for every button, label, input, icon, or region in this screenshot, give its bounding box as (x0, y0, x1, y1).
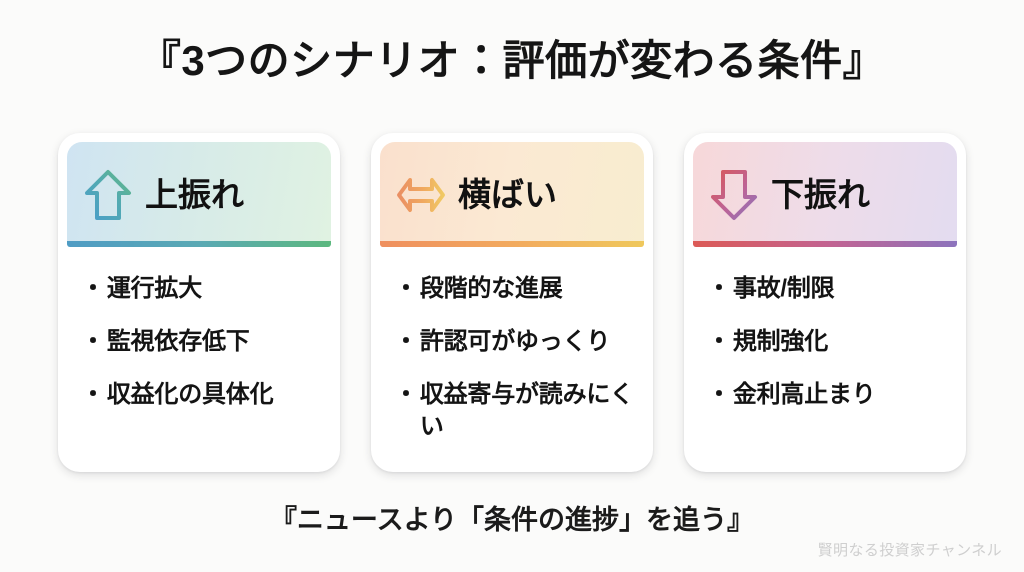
list-item: ・ 収益寄与が読みにくい (394, 379, 638, 441)
bullet-marker: ・ (707, 326, 731, 357)
bullet-text: 規制強化 (733, 326, 951, 357)
bullet-text: 収益寄与が読みにくい (420, 379, 638, 441)
accent-bar-downside (693, 241, 957, 247)
list-item: ・ 監視依存低下 (81, 326, 325, 357)
card-title-downside: 下振れ (771, 178, 870, 211)
bullet-text: 金利高止まり (733, 379, 951, 410)
bullet-marker: ・ (81, 379, 105, 410)
page-title: 『3つのシナリオ：評価が変わる条件』 (0, 36, 1024, 86)
bullet-text: 運行拡大 (107, 273, 325, 304)
accent-bar-upside (67, 241, 331, 247)
scenario-card-row: 上振れ ・ 運行拡大 ・ 監視依存低下 ・ 収益化の具体化 (58, 133, 966, 472)
card-body-upside: ・ 運行拡大 ・ 監視依存低下 ・ 収益化の具体化 (67, 247, 331, 472)
bullet-marker: ・ (394, 273, 418, 304)
card-header-downside: 下振れ (693, 142, 957, 247)
bullet-marker: ・ (707, 273, 731, 304)
bullet-text: 段階的な進展 (420, 273, 638, 304)
card-header-upside: 上振れ (67, 142, 331, 247)
card-body-flat: ・ 段階的な進展 ・ 許認可がゆっくり ・ 収益寄与が読みにくい (380, 247, 644, 472)
bullet-text: 許認可がゆっくり (420, 326, 638, 357)
scenario-slide: 『3つのシナリオ：評価が変わる条件』 上振れ (0, 0, 1024, 572)
card-header-flat: 横ばい (380, 142, 644, 247)
card-body-downside: ・ 事故/制限 ・ 規制強化 ・ 金利高止まり (693, 247, 957, 472)
list-item: ・ 規制強化 (707, 326, 951, 357)
card-title-flat: 横ばい (458, 178, 557, 211)
list-item: ・ 段階的な進展 (394, 273, 638, 304)
card-title-upside: 上振れ (145, 178, 244, 211)
bullet-text: 収益化の具体化 (107, 379, 325, 410)
scenario-card-flat[interactable]: 横ばい ・ 段階的な進展 ・ 許認可がゆっくり ・ 収益寄与が読みにくい (371, 133, 653, 472)
scenario-card-downside[interactable]: 下振れ ・ 事故/制限 ・ 規制強化 ・ 金利高止まり (684, 133, 966, 472)
bullet-marker: ・ (707, 379, 731, 410)
list-item: ・ 金利高止まり (707, 379, 951, 410)
bullet-marker: ・ (394, 379, 418, 410)
bullet-text: 監視依存低下 (107, 326, 325, 357)
bullet-marker: ・ (394, 326, 418, 357)
list-item: ・ 収益化の具体化 (81, 379, 325, 410)
list-item: ・ 運行拡大 (81, 273, 325, 304)
arrow-down-icon (709, 167, 759, 223)
accent-bar-flat (380, 241, 644, 247)
footer-note: 『ニュースより「条件の進捗」を追う』 (0, 498, 1024, 537)
channel-watermark: 賢明なる投資家チャンネル (818, 539, 1002, 560)
list-item: ・ 事故/制限 (707, 273, 951, 304)
scenario-card-upside[interactable]: 上振れ ・ 運行拡大 ・ 監視依存低下 ・ 収益化の具体化 (58, 133, 340, 472)
bullet-marker: ・ (81, 326, 105, 357)
bullet-text: 事故/制限 (733, 273, 951, 304)
arrow-left-right-icon (396, 167, 446, 223)
bullet-marker: ・ (81, 273, 105, 304)
arrow-up-icon (83, 167, 133, 223)
list-item: ・ 許認可がゆっくり (394, 326, 638, 357)
